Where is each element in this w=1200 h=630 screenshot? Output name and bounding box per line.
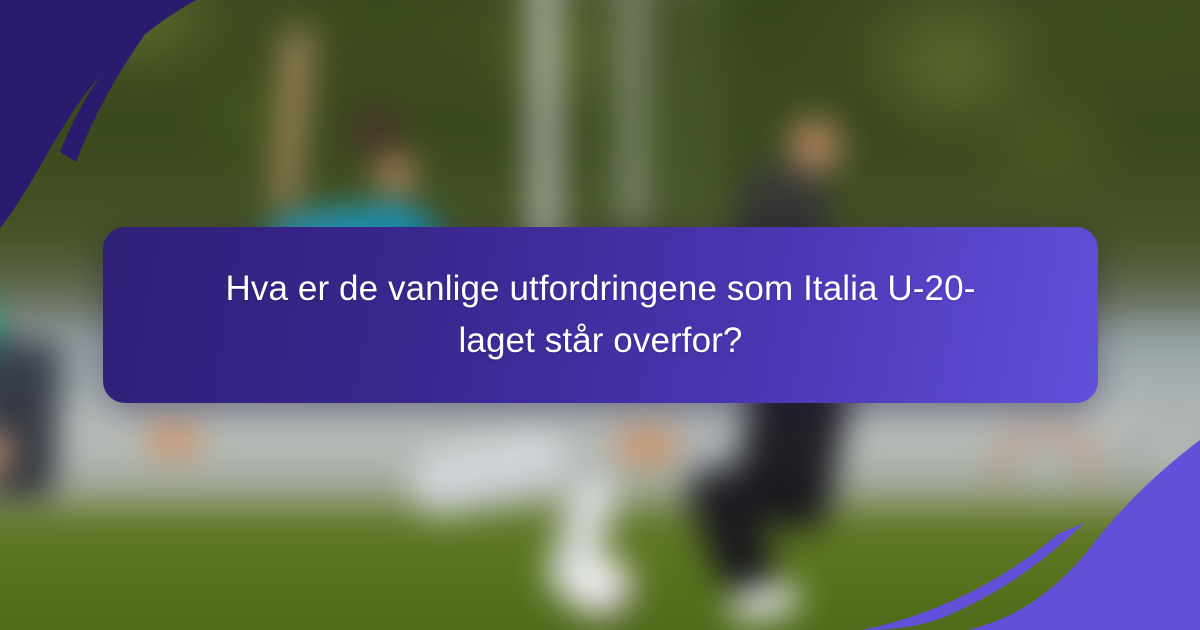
share-card-canvas: Hva er de vanlige utfordringene som Ital… xyxy=(0,0,1200,630)
page-title: Hva er de vanlige utfordringene som Ital… xyxy=(221,263,981,367)
headline-card: Hva er de vanlige utfordringene som Ital… xyxy=(103,227,1098,403)
